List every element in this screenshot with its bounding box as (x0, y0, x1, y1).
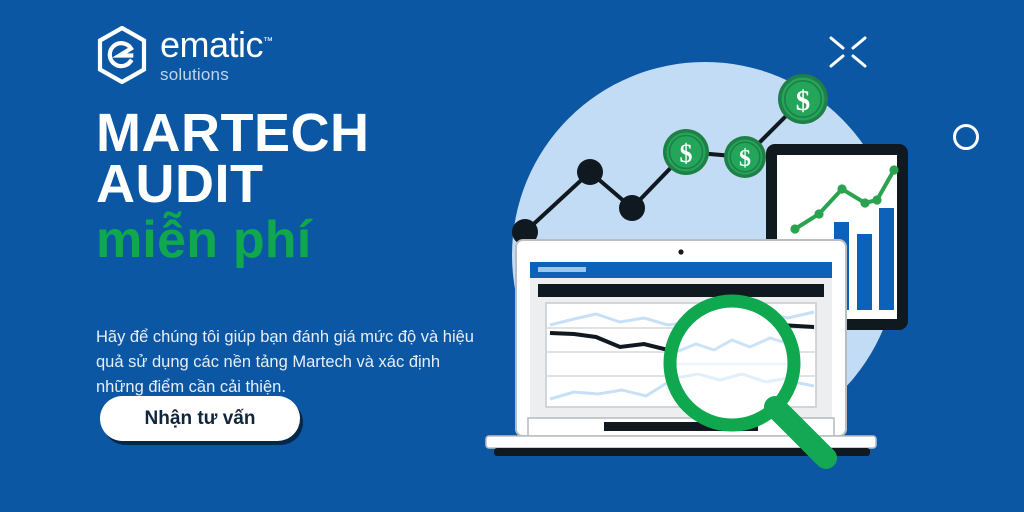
svg-text:$: $ (739, 146, 751, 172)
coin-node: $ (724, 136, 766, 178)
hero-illustration: $ $ $ (470, 0, 1024, 512)
headline-line-2: AUDIT (96, 159, 369, 210)
tablet-bar (879, 208, 894, 310)
chart-node (577, 159, 603, 185)
coin-node: $ (663, 129, 709, 175)
svg-text:$: $ (680, 139, 693, 168)
trademark-symbol: ™ (263, 36, 273, 47)
body-paragraph: Hãy để chúng tôi giúp bạn đánh giá mức đ… (96, 325, 486, 400)
outline-circle-icon (953, 124, 979, 150)
sparkle-cross-icon (828, 34, 868, 70)
chart-node (619, 195, 645, 221)
brand-name: ematic (160, 24, 263, 65)
tablet-bar (857, 234, 872, 310)
hexagon-e-icon (96, 26, 148, 84)
page-title: MARTECH AUDIT miễn phí (96, 108, 369, 264)
headline-line-1: MARTECH (96, 108, 369, 159)
brand-wordmark: ematic™ solutions (160, 27, 273, 83)
marketing-banner: ematic™ solutions MARTECH AUDIT miễn phí… (0, 0, 1024, 512)
brand-logo: ematic™ solutions (96, 26, 273, 84)
svg-text:$: $ (796, 85, 811, 117)
coin-node: $ (778, 74, 828, 124)
brand-tagline: solutions (160, 66, 273, 83)
cta-button[interactable]: Nhận tư vấn (100, 396, 300, 441)
headline-line-3: miễn phí (96, 216, 369, 265)
